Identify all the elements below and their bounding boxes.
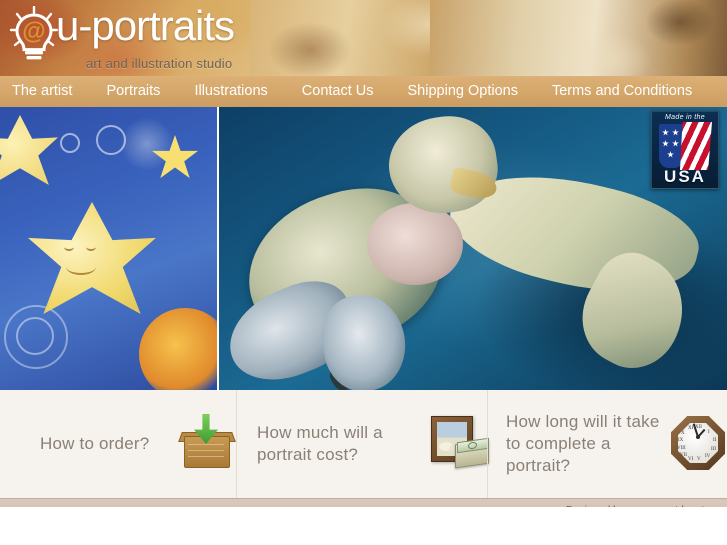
hero-moon-eye-right [86,243,96,251]
clock-numeral: III [711,447,716,452]
download-box-icon [176,412,236,476]
hero-image-moon-stars[interactable] [0,107,217,390]
badge-flag-shield [659,124,684,168]
wall-clock-icon: XII I II III IV V VI VII VIII IX X XI [667,412,727,476]
clock-numeral: XI [688,426,693,431]
site-logo[interactable]: @ u-portraits [8,4,234,64]
feature-portrait-time[interactable]: How long will it take to complete a port… [487,390,727,498]
brand-name: u-portraits [56,4,234,48]
nav-shipping-options[interactable]: Shipping Options [398,76,528,107]
clock-numeral: V [697,457,701,462]
site-header: @ u-portraits art and illustration studi… [0,0,727,76]
hero-small-moon [0,115,58,185]
feature-portrait-cost[interactable]: How much will a portrait cost? [236,390,487,498]
clock-numeral: I [708,430,710,435]
clock-numeral: IV [705,454,710,459]
turtle-neck [367,203,463,285]
feature-portrait-time-label[interactable]: How long will it take to complete a port… [506,411,663,477]
svg-text:@: @ [22,18,45,45]
clock-numeral: X [681,431,685,436]
clock-numeral: VIII [677,446,686,451]
nav-illustrations[interactable]: Illustrations [184,76,277,107]
hero-moon-smile [66,259,96,275]
nav-terms-and-conditions[interactable]: Terms and Conditions [542,76,702,107]
hero-swirl-2 [60,133,80,153]
feature-portrait-cost-label[interactable]: How much will a portrait cost? [257,422,423,466]
hero-image-sea-turtle[interactable]: Made in the USA [219,107,727,390]
badge-flag-stripes [680,122,712,170]
nav-portraits[interactable]: Portraits [96,76,170,107]
nav-contact-us[interactable]: Contact Us [292,76,384,107]
site-tagline: art and illustration studio [86,56,232,71]
framed-picture-money-icon [427,412,487,476]
hero-swirl-4 [16,317,54,355]
badge-made-in-the-text: Made in the [652,114,718,121]
header-art-right [430,0,727,76]
hero-banner: Made in the USA [0,107,727,390]
main-navigation: The artist Portraits Illustrations Conta… [0,76,727,107]
badge-usa-text: USA [652,168,718,185]
clock-numeral: VI [688,457,693,462]
hero-moon-face [58,237,110,277]
feature-how-to-order-label[interactable]: How to order? [40,433,172,455]
nav-the-artist[interactable]: The artist [2,76,82,107]
feature-how-to-order[interactable]: How to order? [0,390,236,498]
page-bottom-whitespace [0,507,727,545]
page-root: @ u-portraits art and illustration studi… [0,0,727,545]
clock-numeral: VII [680,453,687,458]
hero-moon-eye-left [64,243,74,251]
made-in-usa-badge[interactable]: Made in the USA [651,111,719,189]
feature-panels: How to order? How much will a portrait c… [0,390,727,498]
hero-sun-swirl [139,308,217,390]
lightbulb-at-icon: @ [8,6,60,64]
clock-numeral: II [713,438,716,443]
hero-swirl-1 [96,125,126,155]
clock-numeral: IX [678,438,683,443]
brand-wordmark: u-portraits [56,4,234,48]
